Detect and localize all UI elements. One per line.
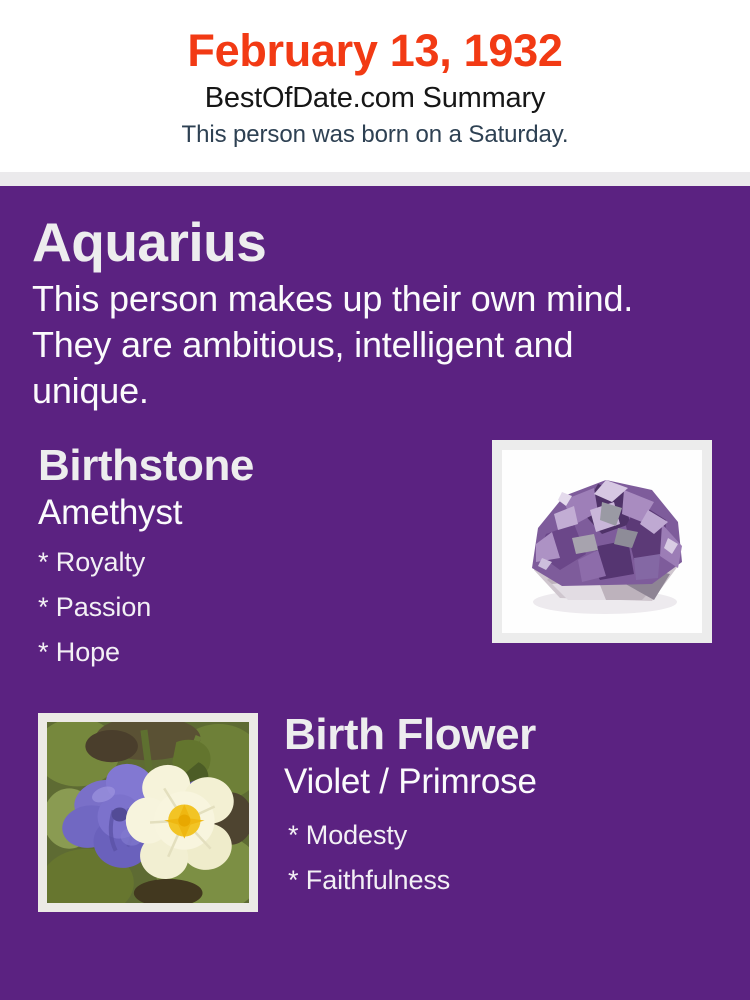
birth-flower-trait-list: * Modesty * Faithfulness — [284, 813, 718, 903]
birth-day-tagline: This person was born on a Saturday. — [0, 118, 750, 151]
page-title: February 13, 1932 — [0, 24, 750, 78]
list-item: * Faithfulness — [288, 858, 718, 903]
list-item: * Modesty — [288, 813, 718, 858]
header-divider — [0, 172, 750, 186]
birthstone-title: Birthstone — [38, 440, 468, 492]
main-content: Aquarius This person makes up their own … — [0, 186, 750, 923]
amethyst-crystal-photo — [502, 450, 702, 633]
birthstone-name: Amethyst — [38, 492, 468, 534]
violet-primrose-photo — [47, 722, 249, 903]
list-item: * Royalty — [38, 540, 468, 585]
birthstone-text-block: Birthstone Amethyst * Royalty * Passion … — [32, 440, 468, 675]
birth-flower-name: Violet / Primrose — [284, 761, 718, 803]
birthstone-image-frame — [492, 440, 712, 643]
birthstone-trait-list: * Royalty * Passion * Hope — [38, 540, 468, 675]
site-name: BestOfDate.com Summary — [0, 78, 750, 118]
birth-flower-text-block: Birth Flower Violet / Primrose * Modesty… — [250, 709, 718, 903]
birth-flower-image-frame — [38, 713, 258, 912]
list-item: * Passion — [38, 585, 468, 630]
header: February 13, 1932 BestOfDate.com Summary… — [0, 0, 750, 172]
birthstone-section: Birthstone Amethyst * Royalty * Passion … — [32, 440, 718, 675]
zodiac-description: This person makes up their own mind. The… — [32, 276, 692, 414]
zodiac-section: Aquarius This person makes up their own … — [32, 186, 718, 414]
birth-flower-title: Birth Flower — [284, 709, 718, 761]
summary-card: February 13, 1932 BestOfDate.com Summary… — [0, 0, 750, 1000]
list-item: * Hope — [38, 630, 468, 675]
zodiac-sign-title: Aquarius — [32, 210, 718, 274]
birth-flower-section: Birth Flower Violet / Primrose * Modesty… — [32, 709, 718, 923]
